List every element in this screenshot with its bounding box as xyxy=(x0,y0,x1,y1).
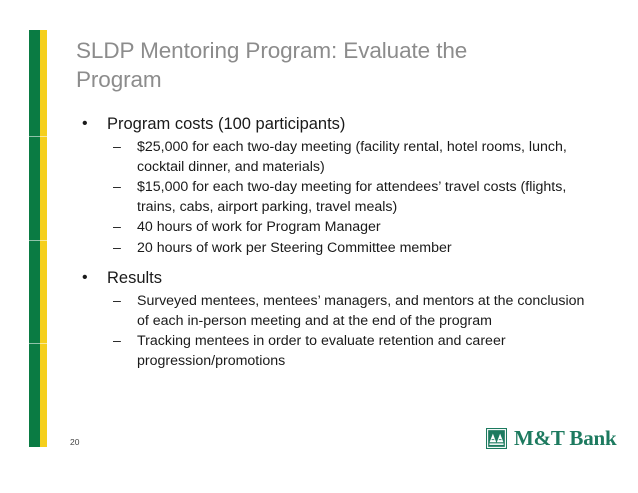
dash-marker-icon: – xyxy=(113,292,121,312)
sub-bullet-text: $25,000 for each two-day meeting (facili… xyxy=(137,138,596,177)
accent-bar-separator xyxy=(29,343,47,344)
page-number: 20 xyxy=(70,437,79,447)
sub-bullet-text: Surveyed mentees, mentees’ managers, and… xyxy=(137,292,596,331)
sub-bullet-item: – $15,000 for each two-day meeting for a… xyxy=(107,178,596,217)
sub-bullet-text: Tracking mentees in order to evaluate re… xyxy=(137,332,596,371)
sub-bullet-item: – 40 hours of work for Program Manager xyxy=(107,218,596,238)
dash-marker-icon: – xyxy=(113,138,121,158)
bullet-text: Results xyxy=(107,267,596,289)
bullet-list-level2: – Surveyed mentees, mentees’ managers, a… xyxy=(107,292,596,371)
bullet-marker-icon: • xyxy=(82,113,88,135)
bullet-item-results: • Results – Surveyed mentees, mentees’ m… xyxy=(76,267,596,371)
sub-bullet-text: $15,000 for each two-day meeting for att… xyxy=(137,178,596,217)
dash-marker-icon: – xyxy=(113,239,121,259)
bullet-list-level2: – $25,000 for each two-day meeting (faci… xyxy=(107,138,596,258)
accent-bar-separator xyxy=(29,136,47,137)
accent-bar-green xyxy=(29,30,40,447)
sub-bullet-text: 20 hours of work per Steering Committee … xyxy=(137,239,596,259)
bullet-text: Program costs (100 participants) xyxy=(107,113,596,135)
sub-bullet-item: – 20 hours of work per Steering Committe… xyxy=(107,239,596,259)
sub-bullet-item: – Tracking mentees in order to evaluate … xyxy=(107,332,596,371)
slide-body: • Program costs (100 participants) – $25… xyxy=(76,113,596,377)
mt-bank-mountain-icon xyxy=(486,428,507,449)
slide-title: SLDP Mentoring Program: Evaluate the Pro… xyxy=(76,36,556,94)
dash-marker-icon: – xyxy=(113,218,121,238)
accent-bar-separator xyxy=(29,240,47,241)
bullet-item-program-costs: • Program costs (100 participants) – $25… xyxy=(76,113,596,258)
dash-marker-icon: – xyxy=(113,178,121,198)
sub-bullet-item: – $25,000 for each two-day meeting (faci… xyxy=(107,138,596,177)
accent-bar-yellow xyxy=(40,30,47,447)
bullet-marker-icon: • xyxy=(82,267,88,289)
slide-canvas: SLDP Mentoring Program: Evaluate the Pro… xyxy=(0,0,638,493)
left-accent-bars xyxy=(29,30,47,447)
mt-bank-logo-text: M&T Bank xyxy=(514,426,616,451)
sub-bullet-item: – Surveyed mentees, mentees’ managers, a… xyxy=(107,292,596,331)
dash-marker-icon: – xyxy=(113,332,121,352)
sub-bullet-text: 40 hours of work for Program Manager xyxy=(137,218,596,238)
mt-bank-logo: M&T Bank xyxy=(486,426,616,451)
bullet-list-level1: • Program costs (100 participants) – $25… xyxy=(76,113,596,371)
